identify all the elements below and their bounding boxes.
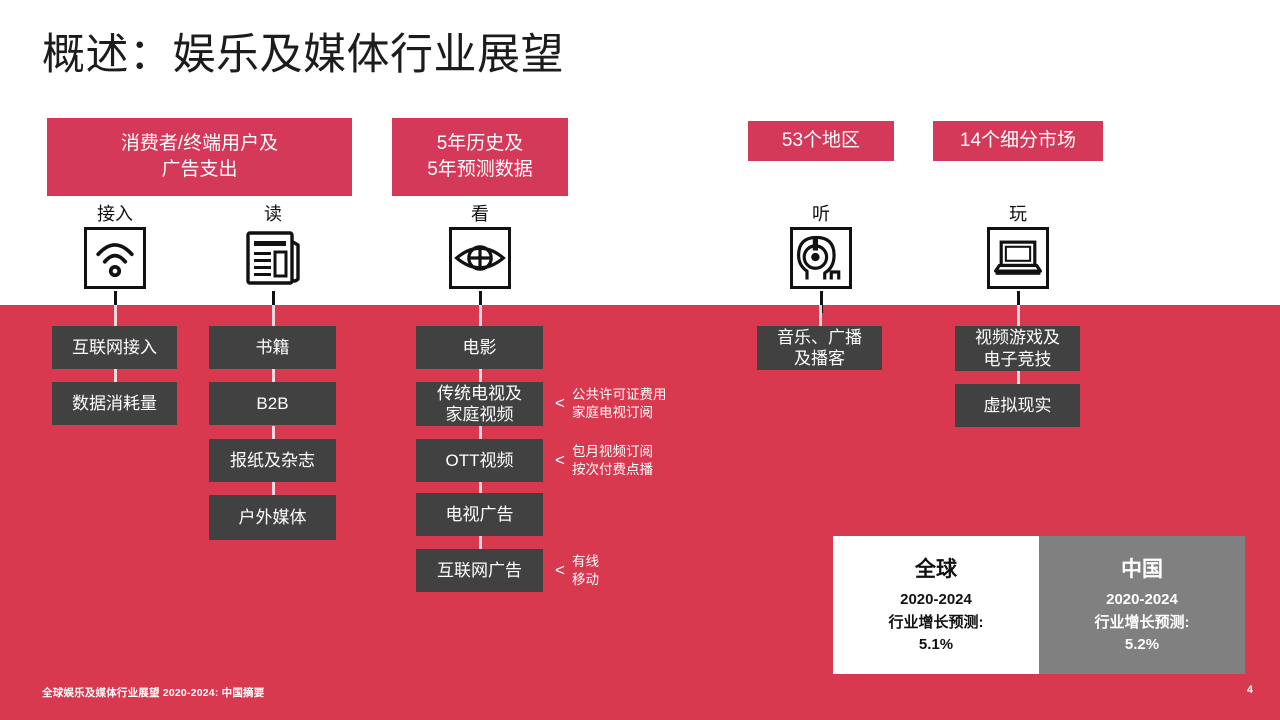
icon-column-listen: 听 — [761, 205, 881, 289]
note-ott-video-line2: 按次付费点播 — [572, 461, 653, 479]
forecast-global-region: 全球 — [915, 553, 957, 583]
note-ott-video-line1: 包月视频订阅 — [572, 443, 653, 461]
box-internet-access: 互联网接入 — [52, 326, 177, 369]
page-title: 概述：娱乐及媒体行业展望 — [42, 20, 564, 82]
box-traditional-tv-line2: 家庭视频 — [446, 405, 514, 424]
connector-listen-1 — [819, 305, 822, 326]
forecast-china-metric: 行业增长预测: — [1095, 612, 1190, 635]
footer-source-text: 全球娱乐及媒体行业展望 2020-2024: 中国摘要 — [42, 685, 264, 700]
box-data-consumption: 数据消耗量 — [52, 382, 177, 425]
note-ott-video: < 包月视频订阅 按次付费点播 — [572, 443, 653, 479]
box-b2b: B2B — [209, 382, 336, 425]
caret-icon-traditional-tv: < — [555, 393, 565, 416]
icon-caption-watch: 看 — [420, 205, 540, 223]
newspaper-icon — [242, 227, 304, 289]
wifi-icon — [84, 227, 146, 289]
note-traditional-tv-line2: 家庭电视订阅 — [572, 404, 667, 422]
connector-watch-4 — [479, 482, 482, 493]
note-internet-advertising-line1: 有线 — [572, 553, 599, 571]
connector-watch-2 — [479, 369, 482, 382]
box-tv-advertising: 电视广告 — [416, 493, 543, 536]
box-newspapers-magazines: 报纸及杂志 — [209, 439, 336, 482]
box-ott-video: OTT视频 — [416, 439, 543, 482]
caret-icon-ott-video: < — [555, 450, 565, 473]
laptop-icon — [987, 227, 1049, 289]
connector-read-1 — [272, 305, 275, 326]
forecast-global-value: 5.1% — [919, 634, 953, 657]
box-music-radio-podcast: 音乐、广播 及播客 — [757, 326, 882, 370]
chip-years-data: 5年历史及 5年预测数据 — [392, 118, 568, 196]
forecast-china-period: 2020-2024 — [1106, 589, 1178, 612]
box-virtual-reality: 虚拟现实 — [955, 384, 1080, 427]
connector-read-4 — [272, 482, 275, 495]
box-internet-advertising: 互联网广告 — [416, 549, 543, 592]
connector-read-3 — [272, 426, 275, 439]
box-music-radio-line2: 及播客 — [794, 349, 845, 368]
connector-watch-1 — [479, 305, 482, 326]
page-number: 4 — [1247, 684, 1253, 696]
box-traditional-tv-home-video: 传统电视及 家庭视频 — [416, 382, 543, 426]
caret-icon-internet-advertising: < — [555, 560, 565, 583]
box-traditional-tv-line1: 传统电视及 — [437, 384, 522, 403]
forecast-global-period: 2020-2024 — [900, 589, 972, 612]
box-music-radio-line1: 音乐、广播 — [777, 328, 862, 347]
icon-column-read: 读 — [213, 205, 333, 289]
connector-watch-3 — [479, 426, 482, 439]
forecast-global-metric: 行业增长预测: — [889, 612, 984, 635]
chip-consumer-line2: 广告支出 — [161, 159, 237, 180]
headphones-icon — [790, 227, 852, 289]
note-traditional-tv: < 公共许可证费用 家庭电视订阅 — [572, 386, 667, 422]
note-internet-advertising: < 有线 移动 — [572, 553, 599, 589]
box-out-of-home-media: 户外媒体 — [209, 495, 336, 540]
icon-column-watch: 看 — [420, 205, 540, 289]
chip-segments-count: 14个细分市场 — [933, 121, 1103, 161]
chip-regions-count: 53个地区 — [748, 121, 894, 161]
connector-read-2 — [272, 369, 275, 382]
forecast-table: 全球 2020-2024 行业增长预测: 5.1% 中国 2020-2024 行… — [833, 536, 1245, 674]
icon-column-access: 接入 — [55, 205, 175, 289]
connector-play-2 — [1017, 371, 1020, 384]
note-traditional-tv-line1: 公共许可证费用 — [572, 386, 667, 404]
icon-caption-access: 接入 — [55, 205, 175, 223]
eye-icon — [449, 227, 511, 289]
slide-root: 概述：娱乐及媒体行业展望 消费者/终端用户及 广告支出 5年历史及 5年预测数据… — [0, 0, 1280, 720]
note-internet-advertising-line2: 移动 — [572, 571, 599, 589]
connector-access-1 — [114, 305, 117, 326]
chip-years-line1: 5年历史及 — [437, 133, 524, 154]
box-video-games-esports: 视频游戏及 电子竞技 — [955, 326, 1080, 371]
icon-caption-play: 玩 — [958, 205, 1078, 223]
icon-caption-listen: 听 — [761, 205, 881, 223]
icon-column-play: 玩 — [958, 205, 1078, 289]
chip-years-line2: 5年预测数据 — [427, 159, 533, 180]
forecast-cell-global: 全球 2020-2024 行业增长预测: 5.1% — [833, 536, 1039, 674]
icon-caption-read: 读 — [213, 205, 333, 223]
chip-consumer-line1: 消费者/终端用户及 — [121, 133, 278, 154]
forecast-cell-china: 中国 2020-2024 行业增长预测: 5.2% — [1039, 536, 1245, 674]
box-books: 书籍 — [209, 326, 336, 369]
connector-access-2 — [114, 369, 117, 382]
connector-play-1 — [1017, 305, 1020, 326]
box-video-games-line2: 电子竞技 — [984, 350, 1052, 369]
box-cinema: 电影 — [416, 326, 543, 369]
forecast-china-region: 中国 — [1121, 553, 1163, 583]
connector-watch-5 — [479, 536, 482, 549]
box-video-games-line1: 视频游戏及 — [975, 328, 1060, 347]
forecast-china-value: 5.2% — [1125, 634, 1159, 657]
chip-consumer-spend: 消费者/终端用户及 广告支出 — [47, 118, 352, 196]
